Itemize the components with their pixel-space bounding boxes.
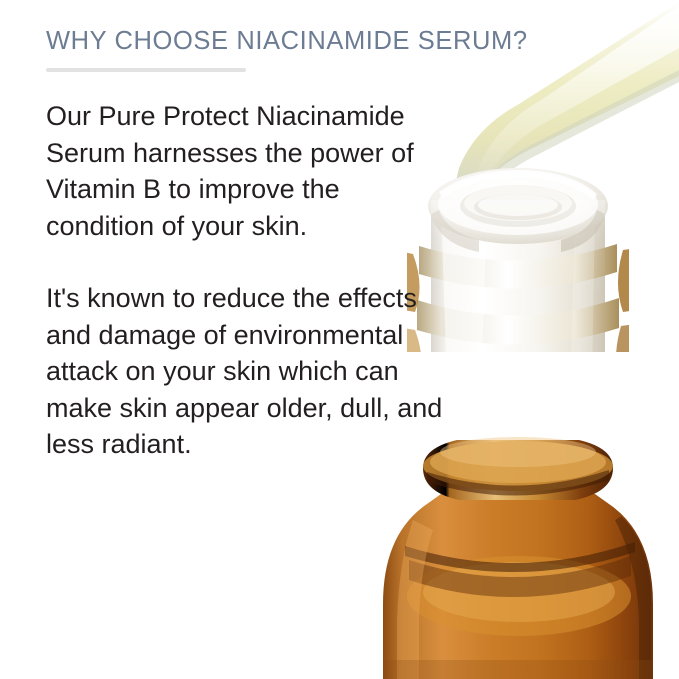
page-title: WHY CHOOSE NIACINAMIDE SERUM? xyxy=(46,24,546,58)
product-description-panel: WHY CHOOSE NIACINAMIDE SERUM? Our Pure P… xyxy=(0,0,679,679)
body-copy: Our Pure Protect Niacinamide Serum harne… xyxy=(46,98,546,463)
paragraph-1: Our Pure Protect Niacinamide Serum harne… xyxy=(46,98,546,244)
paragraph-2: It's known to reduce the effects and dam… xyxy=(46,280,546,463)
copy-block: WHY CHOOSE NIACINAMIDE SERUM? Our Pure P… xyxy=(46,24,546,463)
title-divider xyxy=(46,68,246,72)
